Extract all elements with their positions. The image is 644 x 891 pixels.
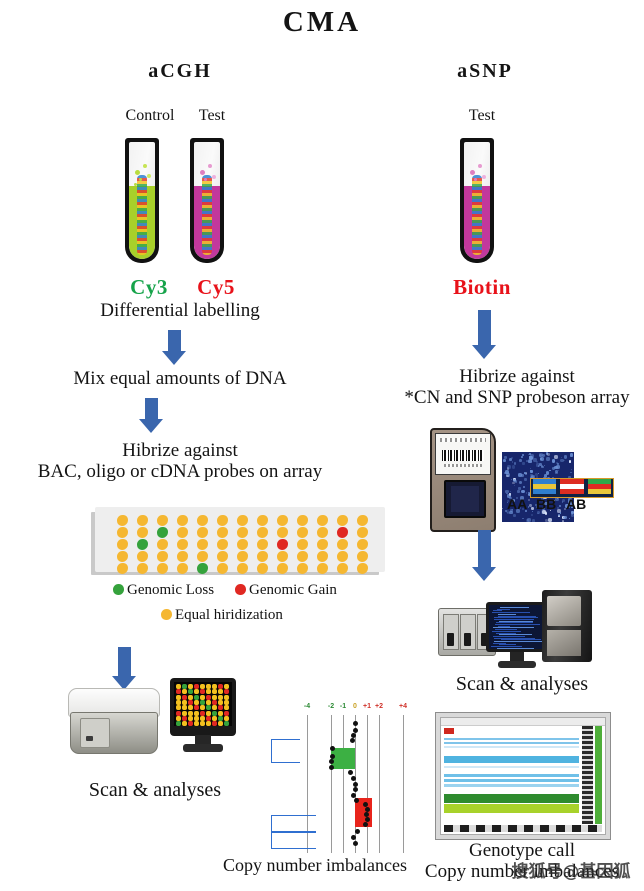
- array-spot: [137, 527, 148, 538]
- array-noise-pixel: [538, 473, 539, 474]
- array-pixel: [218, 721, 223, 726]
- monitor-base: [183, 744, 223, 752]
- array-pixel: [182, 684, 187, 689]
- array-noise-pixel: [560, 512, 562, 514]
- array-noise-pixel: [527, 518, 531, 522]
- chip-window: [444, 480, 486, 518]
- array-pixel: [194, 721, 199, 726]
- array-pixel: [212, 695, 217, 700]
- array-spot: [277, 563, 288, 574]
- array-pixel: [200, 721, 205, 726]
- array-spot: [237, 551, 248, 562]
- cnv-data-point: [353, 728, 358, 733]
- array-pixel: [182, 689, 187, 694]
- gridline: [403, 715, 404, 853]
- array-noise-pixel: [531, 514, 533, 516]
- array-noise-pixel: [557, 463, 559, 465]
- array-noise-pixel: [519, 481, 522, 484]
- step-mix-dna: Mix equal amounts of DNA: [20, 368, 340, 389]
- array-noise-pixel: [540, 458, 541, 459]
- array-noise-pixel: [504, 472, 506, 474]
- array-noise-pixel: [521, 490, 525, 494]
- array-pixel: [188, 689, 193, 694]
- legend-label-gain: Genomic Gain: [249, 582, 337, 598]
- tower-panel-top: [547, 596, 581, 626]
- array-pixel: [176, 695, 181, 700]
- instrument-bay: [443, 614, 459, 650]
- array-pixel: [188, 684, 193, 689]
- instrument-bay: [460, 614, 476, 650]
- legend-dot-red-icon: [235, 584, 246, 595]
- array-noise-pixel: [522, 518, 524, 520]
- array-pixel: [182, 700, 187, 705]
- test-tube-test-snp: [460, 138, 494, 263]
- software-track-strip: [582, 726, 593, 824]
- array-spot: [297, 539, 308, 550]
- cnv-data-point: [353, 721, 358, 726]
- array-spot: [337, 551, 348, 562]
- array-pixel: [176, 689, 181, 694]
- array-pixel: [200, 711, 205, 716]
- chip-label: [435, 433, 491, 475]
- array-spot: [157, 563, 168, 574]
- array-spot: [257, 539, 268, 550]
- array-noise-pixel: [571, 514, 574, 517]
- screen-data-line: [497, 648, 533, 649]
- array-pixel: [212, 684, 217, 689]
- array-noise-pixel: [528, 459, 532, 463]
- array-pixel: [188, 711, 193, 716]
- copy-number-plot: -4-2-10+1+2+4: [285, 703, 425, 853]
- arrow-down-icon: [168, 330, 181, 352]
- array-noise-pixel: [521, 456, 523, 458]
- array-noise-pixel: [502, 508, 503, 509]
- array-pixel: [200, 695, 205, 700]
- array-pixel: [224, 705, 229, 710]
- array-spot: [297, 563, 308, 574]
- array-spot: [137, 563, 148, 574]
- array-pixel: [188, 716, 193, 721]
- scan-analyses-label-left: Scan & analyses: [30, 779, 280, 802]
- cnv-data-point: [363, 802, 368, 807]
- cnv-data-point: [353, 787, 358, 792]
- array-noise-pixel: [554, 455, 558, 459]
- step-hybridize-left: Hibrize against BAC, oligo or cDNA probe…: [10, 440, 350, 483]
- array-noise-pixel: [513, 479, 516, 482]
- array-noise-pixel: [530, 468, 531, 469]
- software-data-row: [444, 756, 579, 763]
- legend-equal-hybridization: Equal hiridization: [161, 607, 283, 624]
- step-hybridize-left-line1: Hibrize against: [10, 440, 350, 461]
- array-pixel: [194, 705, 199, 710]
- cnv-data-point: [353, 841, 358, 846]
- array-noise-pixel: [514, 462, 517, 465]
- array-spot: [237, 563, 248, 574]
- array-spot: [217, 539, 228, 550]
- array-noise-pixel: [546, 471, 550, 475]
- software-window: [440, 717, 606, 835]
- array-spot: [117, 539, 128, 550]
- gridline: [379, 715, 380, 853]
- analysis-software-screenshot: [435, 712, 611, 840]
- gridline: [367, 715, 368, 853]
- array-spot: [217, 551, 228, 562]
- array-pixel: [224, 684, 229, 689]
- array-pixel: [206, 705, 211, 710]
- array-spot: [257, 563, 268, 574]
- software-data-row: [444, 794, 579, 803]
- legend-label-equal: Equal hiridization: [175, 607, 283, 623]
- array-noise-pixel: [507, 512, 509, 514]
- legend-dot-yellow-icon: [161, 609, 172, 620]
- monitor-screen: [174, 682, 232, 726]
- array-pixel: [206, 721, 211, 726]
- call-band: [533, 489, 556, 494]
- computer-tower: [542, 590, 592, 662]
- array-pixel: [224, 721, 229, 726]
- array-noise-pixel: [558, 470, 559, 471]
- array-spot: [277, 527, 288, 538]
- call-band: [560, 489, 583, 494]
- array-spot: [357, 539, 368, 550]
- array-spot: [157, 539, 168, 550]
- array-pixel: [194, 700, 199, 705]
- array-spot: [137, 551, 148, 562]
- array-noise-pixel: [548, 518, 552, 522]
- array-noise-pixel: [511, 479, 512, 480]
- arrow-down-icon: [118, 647, 131, 677]
- array-pixel: [200, 689, 205, 694]
- cnv-data-point: [329, 765, 334, 770]
- workstation-monitor-base: [498, 661, 536, 668]
- array-spot: [257, 551, 268, 562]
- array-noise-pixel: [549, 470, 551, 472]
- array-noise-pixel: [506, 475, 508, 477]
- dna-strand-icon: [137, 175, 147, 255]
- array-spot: [317, 515, 328, 526]
- array-spot: [277, 539, 288, 550]
- array-spot: [117, 515, 128, 526]
- tube-glass: [194, 142, 220, 259]
- array-noise-pixel: [526, 492, 527, 493]
- snp-chip-cartridge: [430, 428, 496, 532]
- array-pixel: [188, 721, 193, 726]
- array-spot: [277, 551, 288, 562]
- array-noise-pixel: [507, 465, 511, 469]
- dna-strand-icon: [472, 175, 482, 255]
- cnv-data-point: [351, 793, 356, 798]
- cnv-bracket: [271, 831, 316, 849]
- array-noise-pixel: [560, 459, 564, 463]
- array-pixel: [200, 705, 205, 710]
- call-band: [588, 489, 611, 494]
- array-spot: [297, 515, 308, 526]
- step-hybridize-left-line2: BAC, oligo or cDNA probes on array: [10, 461, 350, 482]
- page-title: CMA: [0, 6, 644, 39]
- array-noise-pixel: [538, 465, 540, 467]
- array-pixel: [218, 695, 223, 700]
- array-noise-pixel: [510, 491, 511, 492]
- array-spot: [177, 515, 188, 526]
- array-pixel: [176, 711, 181, 716]
- array-pixel: [194, 711, 199, 716]
- array-spot: [337, 563, 348, 574]
- array-spot: [117, 551, 128, 562]
- array-spot: [237, 515, 248, 526]
- array-noise-pixel: [563, 516, 566, 519]
- dye-label-cy3: Cy3: [110, 275, 188, 300]
- genotype-label-bb: BB: [536, 496, 556, 512]
- array-spot: [177, 563, 188, 574]
- array-pixel: [218, 716, 223, 721]
- cnv-data-point: [354, 798, 359, 803]
- chip-label-text-top: [440, 438, 486, 442]
- array-pixel: [188, 705, 193, 710]
- array-pixel: [200, 684, 205, 689]
- array-noise-pixel: [532, 519, 535, 522]
- array-pixel: [182, 705, 187, 710]
- test-tube-test-acgh: [190, 138, 224, 263]
- array-noise-pixel: [512, 465, 516, 469]
- arrow-down-icon: [478, 530, 491, 568]
- step-hybridize-right-line1: Hibrize against: [390, 366, 644, 387]
- software-data-row: [444, 742, 579, 744]
- tower-panel-bottom: [547, 630, 581, 656]
- array-noise-pixel: [518, 473, 522, 477]
- barcode-icon: [442, 450, 484, 461]
- array-noise-pixel: [552, 467, 555, 470]
- software-data-row: [444, 746, 579, 748]
- array-pixel: [206, 689, 211, 694]
- tube-label-test: Test: [180, 107, 244, 125]
- tube-glass: [129, 142, 155, 259]
- array-spot: [137, 515, 148, 526]
- array-spot: [357, 527, 368, 538]
- array-pixel: [224, 695, 229, 700]
- asnp-branch-heading: aSNP: [405, 60, 565, 83]
- array-pixel: [182, 721, 187, 726]
- array-noise-pixel: [517, 490, 519, 492]
- arrow-down-icon: [145, 398, 158, 420]
- array-noise-pixel: [503, 459, 506, 462]
- array-spot: [177, 527, 188, 538]
- array-noise-pixel: [546, 457, 550, 461]
- software-alert-badge: [444, 728, 454, 734]
- gridline: [331, 715, 332, 853]
- array-pixel: [212, 721, 217, 726]
- cnv-data-point: [351, 776, 356, 781]
- scan-analyses-label-right: Scan & analyses: [400, 673, 644, 696]
- array-pixel: [194, 695, 199, 700]
- array-pixel: [200, 716, 205, 721]
- array-pixel: [212, 705, 217, 710]
- array-noise-pixel: [532, 511, 533, 512]
- array-spot: [217, 527, 228, 538]
- call-cell-bb: [558, 479, 585, 497]
- array-pixel: [224, 716, 229, 721]
- array-pixel: [212, 716, 217, 721]
- software-data-row: [444, 784, 579, 787]
- array-pixel: [224, 689, 229, 694]
- array-pixel: [212, 700, 217, 705]
- tube-label-test-snp: Test: [450, 107, 514, 125]
- array-pixel: [212, 711, 217, 716]
- array-spot: [157, 515, 168, 526]
- array-noise-pixel: [528, 499, 530, 501]
- array-pixel: [182, 695, 187, 700]
- array-pixel: [218, 684, 223, 689]
- array-spot: [357, 563, 368, 574]
- array-spot: [277, 515, 288, 526]
- scanner-slot: [80, 718, 110, 748]
- cnv-loss-band: [331, 748, 355, 769]
- acgh-branch-heading: aCGH: [100, 60, 260, 83]
- software-green-bar: [595, 726, 602, 824]
- array-spot: [157, 551, 168, 562]
- array-noise-pixel: [524, 478, 527, 481]
- array-noise-pixel: [564, 455, 567, 458]
- array-noise-pixel: [559, 505, 562, 508]
- axis-tick-label: +2: [371, 703, 387, 710]
- array-spot: [257, 527, 268, 538]
- array-spot: [337, 515, 348, 526]
- array-spot: [197, 563, 208, 574]
- array-spot: [177, 551, 188, 562]
- scanner-button-icon: [86, 736, 93, 741]
- analysis-workstation: [438, 590, 598, 668]
- step-hybridize-right: Hibrize against *CN and SNP probeson arr…: [390, 366, 644, 409]
- array-noise-pixel: [571, 469, 572, 470]
- array-pixel: [206, 700, 211, 705]
- array-pixel: [182, 716, 187, 721]
- array-spot: [197, 515, 208, 526]
- array-noise-pixel: [569, 518, 570, 519]
- array-pixel: [218, 711, 223, 716]
- watermark: 搜狐号@基因狐: [498, 857, 644, 882]
- array-noise-pixel: [513, 514, 516, 517]
- array-pixel: [176, 721, 181, 726]
- array-spot: [337, 527, 348, 538]
- array-spot: [317, 551, 328, 562]
- array-pixel: [194, 716, 199, 721]
- cnv-data-point: [348, 770, 353, 775]
- array-pixel: [188, 700, 193, 705]
- array-pixel: [176, 684, 181, 689]
- array-spot: [317, 527, 328, 538]
- test-tube-control: [125, 138, 159, 263]
- array-noise-pixel: [552, 459, 555, 462]
- microarray-scanner: [68, 688, 158, 753]
- software-bottom-track: [444, 825, 602, 832]
- genotype-call-box: [530, 478, 614, 498]
- array-pixel: [182, 711, 187, 716]
- array-pixel: [188, 695, 193, 700]
- array-spot: [317, 539, 328, 550]
- microarray-slide: [95, 507, 385, 572]
- array-spot: [297, 551, 308, 562]
- array-spot: [197, 539, 208, 550]
- gridline: [343, 715, 344, 853]
- array-spot: [117, 563, 128, 574]
- array-pixel: [206, 695, 211, 700]
- legend-genomic-loss: Genomic Loss: [113, 582, 214, 599]
- software-toolbar: [441, 718, 605, 726]
- genotype-label-aa: AA: [507, 496, 527, 512]
- tube-glass: [464, 142, 490, 259]
- array-spot: [357, 551, 368, 562]
- legend-dot-green-icon: [113, 584, 124, 595]
- array-spot: [297, 527, 308, 538]
- call-cell-aa: [531, 479, 558, 497]
- dna-strand-icon: [202, 175, 212, 255]
- arrow-down-icon: [478, 310, 491, 346]
- array-spot: [357, 515, 368, 526]
- cnv-data-point: [329, 759, 334, 764]
- workstation-screen: [489, 605, 545, 649]
- array-spot: [137, 539, 148, 550]
- array-noise-pixel: [531, 507, 534, 510]
- array-result-monitor: [170, 678, 236, 754]
- chip-label-text-bottom: [444, 464, 482, 467]
- array-noise-pixel: [518, 487, 520, 489]
- array-noise-pixel: [542, 454, 545, 457]
- array-noise-pixel: [532, 470, 533, 471]
- software-data-row: [444, 774, 579, 777]
- step-hybridize-right-line2: *CN and SNP probeson array: [390, 387, 644, 408]
- cnv-data-point: [330, 746, 335, 751]
- array-noise-pixel: [547, 453, 550, 456]
- array-pixel: [176, 716, 181, 721]
- array-pixel: [212, 689, 217, 694]
- array-spot: [237, 539, 248, 550]
- call-cell-ab: [586, 479, 613, 497]
- array-noise-pixel: [558, 514, 560, 516]
- array-noise-pixel: [507, 472, 509, 474]
- array-pixel: [218, 689, 223, 694]
- array-pixel: [206, 684, 211, 689]
- array-spot: [217, 515, 228, 526]
- array-spot: [157, 527, 168, 538]
- array-pixel: [194, 684, 199, 689]
- array-noise-pixel: [514, 485, 515, 486]
- array-pixel: [206, 716, 211, 721]
- array-pixel: [200, 700, 205, 705]
- array-spot: [237, 527, 248, 538]
- array-pixel: [218, 705, 223, 710]
- step-differential-labelling: Differential labelling: [30, 300, 330, 321]
- array-pixel: [176, 705, 181, 710]
- cnv-data-point: [330, 754, 335, 759]
- array-spot: [197, 551, 208, 562]
- dye-label-biotin: Biotin: [430, 275, 534, 300]
- array-noise-pixel: [569, 460, 571, 462]
- array-spot: [337, 539, 348, 550]
- array-pixel: [194, 689, 199, 694]
- workstation-monitor: [486, 602, 548, 652]
- cnv-data-point: [355, 829, 360, 834]
- array-spot: [117, 527, 128, 538]
- array-noise-pixel: [524, 472, 526, 474]
- array-noise-pixel: [519, 459, 522, 462]
- software-data-row: [444, 738, 579, 740]
- array-noise-pixel: [522, 462, 524, 464]
- software-data-row: [444, 766, 579, 768]
- axis-tick-label: -4: [299, 703, 315, 710]
- genotype-label-ab: AB: [566, 496, 586, 512]
- array-pixel: [218, 700, 223, 705]
- array-spot: [197, 527, 208, 538]
- legend-genomic-gain: Genomic Gain: [235, 582, 337, 599]
